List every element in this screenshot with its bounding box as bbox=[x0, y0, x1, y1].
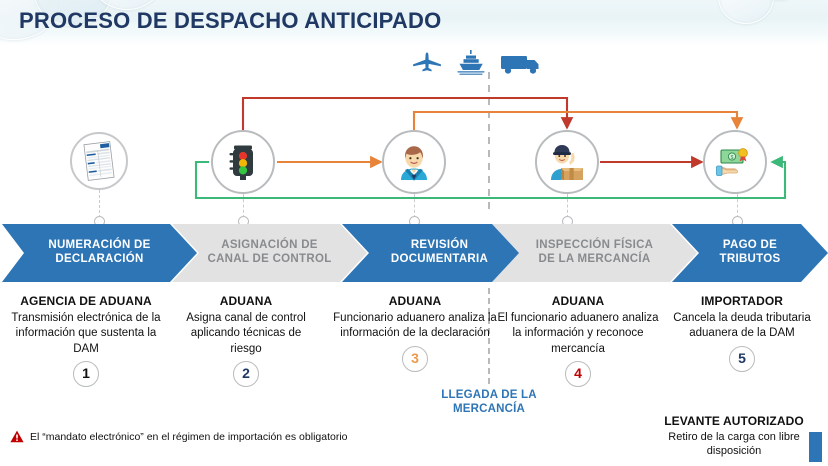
footnote-text: El “mandato electrónico” en el régimen d… bbox=[30, 431, 348, 443]
step-1-number: 1 bbox=[73, 361, 99, 387]
levante-body: Retiro de la carga con libre disposición bbox=[668, 431, 799, 457]
levante-autorizado-block: LEVANTE AUTORIZADO Retiro de la carga co… bbox=[644, 414, 824, 458]
node-drop-line bbox=[737, 194, 738, 218]
chevron-step-1-line1: NUMERACIÓN DE bbox=[34, 239, 164, 253]
node-drop-line bbox=[243, 194, 244, 218]
process-chevron-row: NUMERACIÓN DE DECLARACIÓN ASIGNACIÓN DE … bbox=[0, 224, 828, 282]
chevron-step-5-line2: TRIBUTOS bbox=[706, 253, 795, 267]
customs-officer-icon bbox=[394, 142, 434, 182]
step-description-3: ADUANA Funcionario aduanero analiza la i… bbox=[330, 294, 500, 372]
step-4-actor: ADUANA bbox=[494, 294, 662, 310]
step-5-number: 5 bbox=[729, 346, 755, 372]
step-1-actor: AGENCIA DE ADUANA bbox=[2, 294, 170, 310]
step-3-number: 3 bbox=[402, 346, 428, 372]
officer-inspecting-package-icon bbox=[547, 142, 587, 182]
chevron-step-1[interactable]: NUMERACIÓN DE DECLARACIÓN bbox=[2, 224, 197, 282]
step-3-actor: ADUANA bbox=[330, 294, 500, 310]
step-2-body: Asigna canal de control aplicando técnic… bbox=[176, 311, 316, 357]
slide-canvas: PROCESO DE DESPACHO ANTICIPADO bbox=[0, 0, 828, 466]
step-description-5: IMPORTADOR Cancela la deuda tributaria a… bbox=[662, 294, 822, 372]
node-drop-line bbox=[567, 194, 568, 218]
arrival-line2: MERCANCÍA bbox=[453, 403, 525, 415]
chevron-step-5-line1: PAGO DE bbox=[706, 239, 795, 253]
warning-triangle-icon bbox=[10, 430, 24, 443]
step-2-number: 2 bbox=[233, 361, 259, 387]
arrival-line1: LLEGADA DE LA bbox=[441, 389, 536, 401]
arrival-label: LLEGADA DE LA MERCANCÍA bbox=[409, 388, 569, 417]
step-description-1: AGENCIA DE ADUANA Transmisión electrónic… bbox=[2, 294, 170, 387]
node-document-form[interactable] bbox=[70, 132, 128, 190]
traffic-light-icon bbox=[223, 142, 263, 182]
chevron-step-3-line1: REVISIÓN bbox=[377, 239, 502, 253]
hand-with-money-icon: $ bbox=[715, 142, 755, 182]
edge-accent-bar bbox=[809, 432, 822, 462]
node-drop-line bbox=[414, 194, 415, 218]
chevron-step-3-line2: DOCUMENTARIA bbox=[377, 253, 502, 267]
step-2-actor: ADUANA bbox=[176, 294, 316, 310]
step-5-body: Cancela la deuda tributaria aduanera de … bbox=[662, 311, 822, 342]
chevron-step-2-line1: ASIGNACIÓN DE bbox=[193, 239, 345, 253]
step-5-actor: IMPORTADOR bbox=[662, 294, 822, 310]
step-3-body: Funcionario aduanero analiza la informac… bbox=[330, 311, 500, 342]
chevron-step-2[interactable]: ASIGNACIÓN DE CANAL DE CONTROL bbox=[172, 224, 367, 282]
step-description-2: ADUANA Asigna canal de control aplicando… bbox=[176, 294, 316, 387]
document-form-icon bbox=[82, 141, 116, 181]
node-customs-officer[interactable] bbox=[382, 130, 446, 194]
node-hand-with-money[interactable]: $ bbox=[703, 130, 767, 194]
step-4-body: El funcionario aduanero analiza la infor… bbox=[494, 311, 662, 357]
step-4-number: 4 bbox=[565, 361, 591, 387]
chevron-step-1-line2: DECLARACIÓN bbox=[34, 253, 164, 267]
footnote: El “mandato electrónico” en el régimen d… bbox=[10, 430, 348, 443]
chevron-step-2-line2: CANAL DE CONTROL bbox=[193, 253, 345, 267]
chevron-step-4[interactable]: INSPECCIÓN FÍSICA DE LA MERCANCÍA bbox=[492, 224, 697, 282]
node-traffic-light[interactable] bbox=[211, 130, 275, 194]
node-officer-inspecting-package[interactable] bbox=[535, 130, 599, 194]
step-description-4: ADUANA El funcionario aduanero analiza l… bbox=[494, 294, 662, 387]
levante-title: LEVANTE AUTORIZADO bbox=[644, 414, 824, 430]
svg-text:$: $ bbox=[731, 155, 734, 161]
chevron-step-4-line2: DE LA MERCANCÍA bbox=[522, 253, 668, 267]
chevron-step-4-line1: INSPECCIÓN FÍSICA bbox=[522, 239, 668, 253]
node-drop-line bbox=[99, 190, 100, 218]
step-1-body: Transmisión electrónica de la informació… bbox=[2, 311, 170, 357]
